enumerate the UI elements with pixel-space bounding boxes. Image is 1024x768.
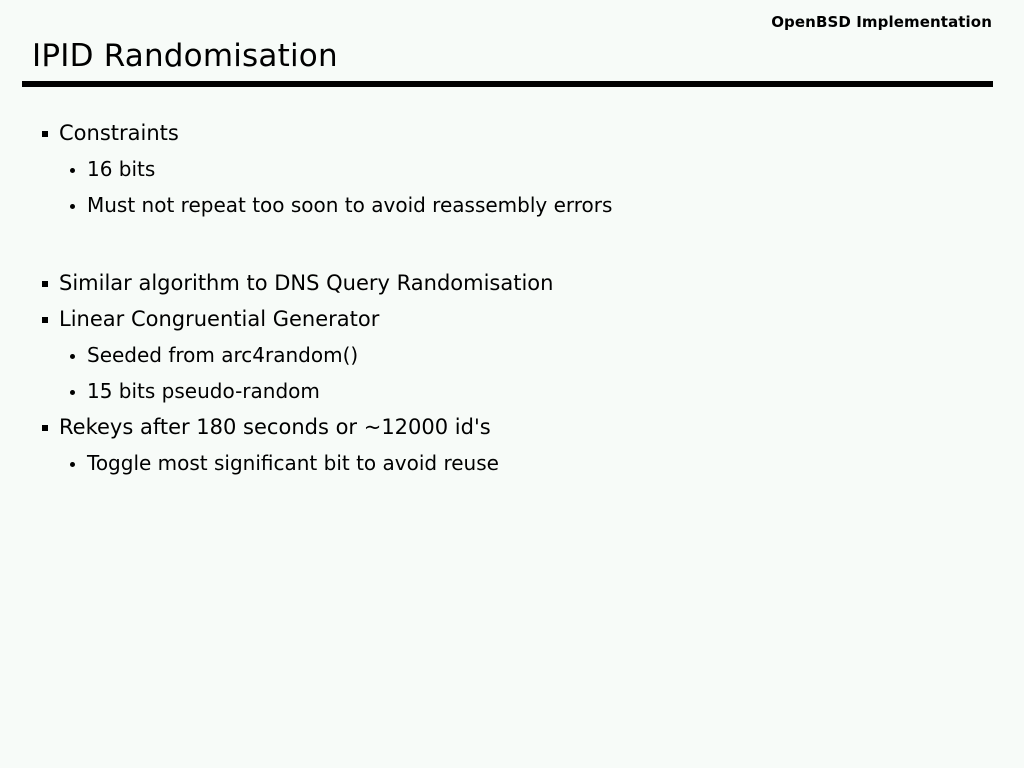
- bullet-label: Similar algorithm to DNS Query Randomisa…: [59, 268, 553, 298]
- bullet-label: Must not repeat too soon to avoid reasse…: [87, 190, 612, 220]
- dot-bullet-icon: [70, 204, 75, 209]
- bullet-item: Must not repeat too soon to avoid reasse…: [0, 190, 1024, 226]
- square-bullet-icon: [42, 425, 48, 431]
- dot-bullet-icon: [70, 168, 75, 173]
- bullet-item: Similar algorithm to DNS Query Randomisa…: [0, 268, 1024, 304]
- square-bullet-icon: [42, 131, 48, 137]
- slide-body: Constraints 16 bits Must not repeat too …: [0, 118, 1024, 484]
- bullet-label: 15 bits pseudo-random: [87, 376, 320, 406]
- bullet-item: Seeded from arc4random(): [0, 340, 1024, 376]
- bullet-label: Rekeys after 180 seconds or ~12000 id's: [59, 412, 491, 442]
- dot-bullet-icon: [70, 390, 75, 395]
- bullet-item: Linear Congruential Generator: [0, 304, 1024, 340]
- dot-bullet-icon: [70, 462, 75, 467]
- square-bullet-icon: [42, 281, 48, 287]
- bullet-item: 16 bits: [0, 154, 1024, 190]
- bullet-item: 15 bits pseudo-random: [0, 376, 1024, 412]
- bullet-item: Constraints: [0, 118, 1024, 154]
- dot-bullet-icon: [70, 354, 75, 359]
- bullet-label: Toggle most significant bit to avoid reu…: [87, 448, 499, 478]
- bullet-label: Seeded from arc4random(): [87, 340, 358, 370]
- bullet-item: Toggle most significant bit to avoid reu…: [0, 448, 1024, 484]
- bullet-item: Rekeys after 180 seconds or ~12000 id's: [0, 412, 1024, 448]
- slide: OpenBSD Implementation IPID Randomisatio…: [0, 0, 1024, 768]
- bullet-group-spacer: [0, 226, 1024, 268]
- title-divider: [22, 81, 993, 87]
- bullet-label: Constraints: [59, 118, 179, 148]
- square-bullet-icon: [42, 317, 48, 323]
- slide-header-note: OpenBSD Implementation: [771, 13, 992, 31]
- bullet-label: Linear Congruential Generator: [59, 304, 379, 334]
- bullet-label: 16 bits: [87, 154, 155, 184]
- page-title: IPID Randomisation: [32, 38, 338, 74]
